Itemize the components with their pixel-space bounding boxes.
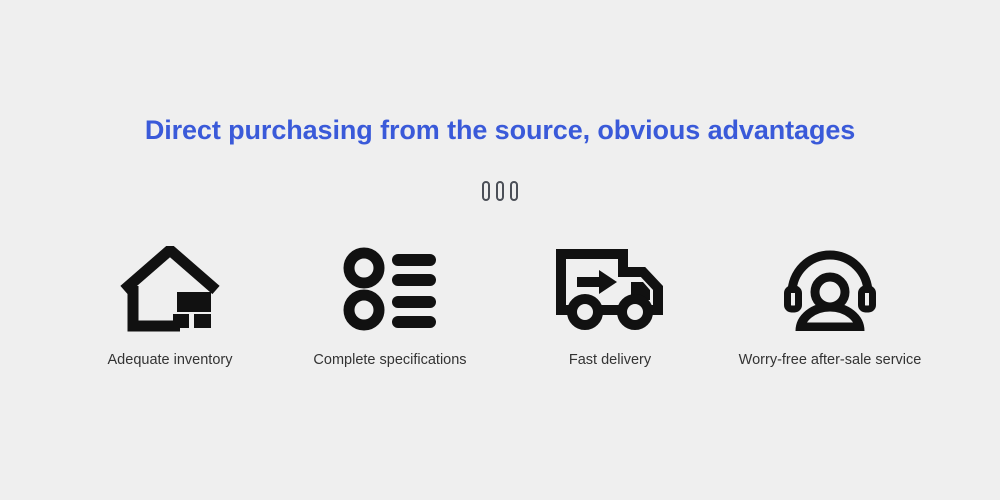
feature-item-service: Worry-free after-sale service [720,243,940,369]
decorative-zero-2 [496,181,504,201]
feature-list: Adequate inventory Complete specificatio… [60,243,940,369]
customer-service-headset-icon [784,243,876,335]
page-title: Direct purchasing from the source, obvio… [0,113,1000,147]
warehouse-inventory-icon [120,243,220,335]
specifications-list-icon [342,243,438,335]
decorative-zero-3 [510,181,518,201]
feature-label-specifications: Complete specifications [313,351,466,369]
promo-banner: Direct purchasing from the source, obvio… [0,0,1000,500]
delivery-truck-icon [555,243,665,335]
feature-item-inventory: Adequate inventory [60,243,280,369]
feature-label-service: Worry-free after-sale service [739,351,922,369]
feature-label-inventory: Adequate inventory [108,351,233,369]
feature-label-delivery: Fast delivery [569,351,651,369]
decorative-zeros [0,179,1000,203]
decorative-zero-1 [482,181,490,201]
feature-item-delivery: Fast delivery [500,243,720,369]
feature-item-specifications: Complete specifications [280,243,500,369]
